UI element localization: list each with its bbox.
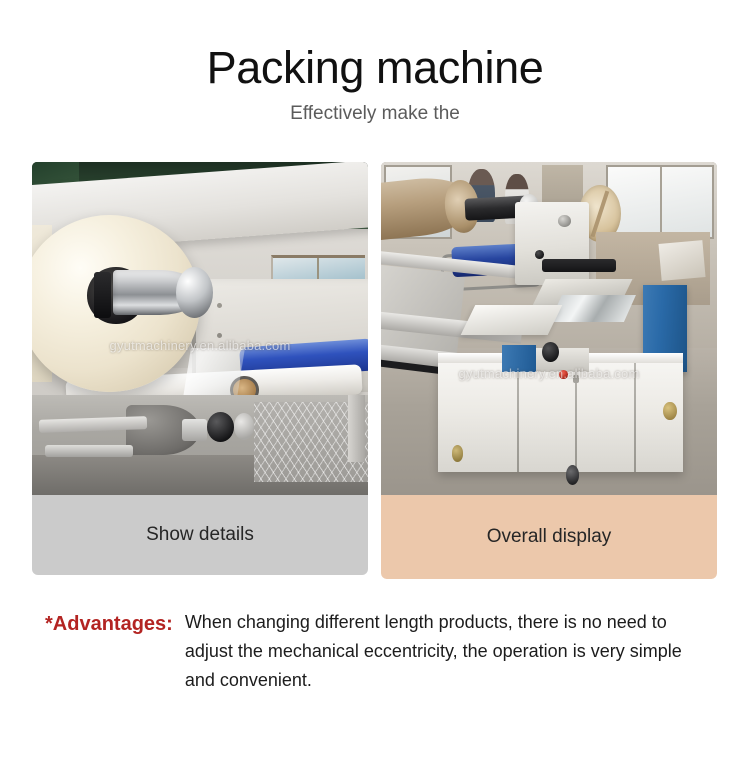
transfer-plate-front [461,305,563,335]
gallery-card-overall-display[interactable]: gyutmachinery.en.alibaba.com Overall dis… [381,162,717,579]
advantages-section: *Advantages: When changing different len… [45,608,710,695]
product-photo-detail[interactable]: gyutmachinery.en.alibaba.com [32,162,368,495]
workshop-window-right [606,165,714,238]
image-gallery: gyutmachinery.en.alibaba.com Show detail… [32,162,718,579]
advantages-label: *Advantages: [45,608,185,640]
product-photo-overall[interactable]: gyutmachinery.en.alibaba.com [381,162,717,495]
cabinet-door-handle [573,375,579,383]
page-header: Packing machine Effectively make the [0,0,750,125]
workshop-boxes [658,240,705,280]
caption-show-details[interactable]: Show details [32,495,368,575]
photo-scene-overall [381,162,717,495]
cabinet-seam-3 [634,362,636,472]
gallery-card-show-details[interactable]: gyutmachinery.en.alibaba.com Show detail… [32,162,368,579]
lower-knob-dark [207,412,234,442]
sealing-head-unit [515,202,589,285]
packing-film-sheet [183,348,245,398]
infeed-conveyor-side [381,264,466,359]
product-detail-page: Packing machine Effectively make the [0,0,750,759]
support-post [348,395,365,462]
caption-overall-display[interactable]: Overall display [381,495,717,579]
foil-sheet [550,295,636,322]
page-title: Packing machine [0,44,750,91]
advantages-text: When changing different length products,… [185,608,710,695]
blue-accent-block [502,345,536,372]
lower-knob-light [234,413,254,440]
lower-roller [126,405,200,455]
lower-bar-lower [45,445,132,457]
adjustment-arm [542,259,616,272]
cabinet-seam-1 [517,362,519,472]
page-subtitle: Effectively make the [0,103,750,125]
emergency-stop-button [559,370,568,379]
caster-wheel-left [452,445,464,462]
photo-scene-detail [32,162,368,495]
control-knob [542,342,559,362]
caster-wheel-right [663,402,676,420]
roll-clamp [94,272,111,319]
